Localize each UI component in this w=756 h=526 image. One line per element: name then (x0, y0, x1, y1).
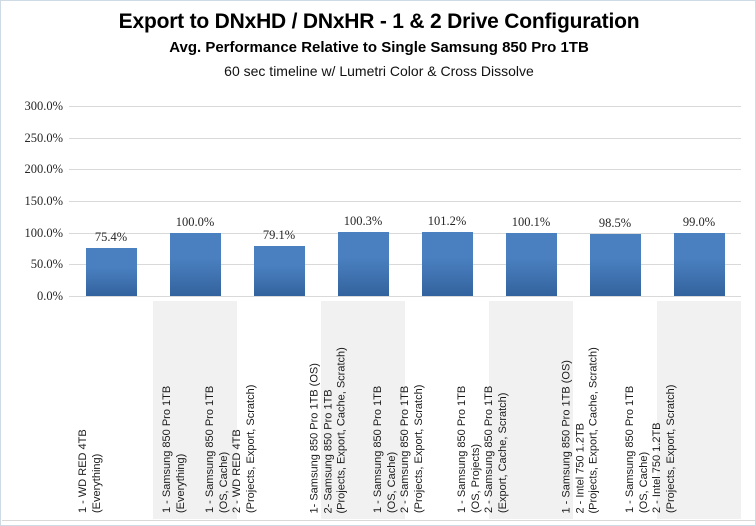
bar-value-label: 100.1% (491, 215, 571, 229)
x-axis-categories: 1 - WD RED 4TB(Everything)1 - Samsung 85… (69, 297, 741, 519)
bar-value-label: 99.0% (659, 215, 739, 229)
category-label-line: 1 - Samsung 850 Pro 1TB (161, 386, 175, 513)
gridline (69, 201, 741, 202)
category-label: 1 - Samsung 850 Pro 1TB(OS, Cache)2 - Sa… (372, 385, 426, 513)
bar-value-label: 100.3% (323, 214, 403, 228)
bottom-divider (2, 520, 756, 521)
category-label: 1 - Samsung 850 Pro 1TB(OS, Projects)2 -… (456, 386, 510, 513)
chart-subtitle: Avg. Performance Relative to Single Sams… (1, 37, 756, 59)
category-label-line: 2 - Intel 750 1.2TB (574, 347, 588, 513)
plot-area (69, 106, 741, 296)
y-axis-tick-label: 250.0% (1, 132, 63, 144)
bar-chart-figure: Export to DNxHD / DNxHR - 1 & 2 Drive Co… (0, 0, 756, 526)
category-label-line: (Everything) (174, 386, 188, 513)
y-axis-tick-label: 150.0% (1, 195, 63, 207)
chart-title-block: Export to DNxHD / DNxHR - 1 & 2 Drive Co… (1, 9, 756, 81)
bar (170, 233, 221, 296)
bar-value-label: 98.5% (575, 216, 655, 230)
category-label-line: 2 - Samsung 850 Pro 1TB (399, 385, 413, 513)
category-label: 1 - Samsung 850 Pro 1TB(OS, Cache)2 - In… (624, 385, 678, 513)
y-axis-tick-label: 300.0% (1, 100, 63, 112)
category-label-line: (OS, Projects) (470, 386, 484, 513)
gridline (69, 106, 741, 107)
category-label-line: (Projects, Export, Scratch) (665, 385, 679, 513)
category-label: 1 - Samsung 850 Pro 1TB (OS)2 - Intel 75… (560, 347, 601, 513)
category-label-line: 1 - Samsung 850 Pro 1TB (456, 386, 470, 513)
category-label: 1- Samsung 850 Pro 1TB (OS)2- Samsung 85… (308, 347, 349, 513)
category-label-line: 1 - Samsung 850 Pro 1TB (OS) (560, 347, 574, 513)
y-axis-tick-label: 100.0% (1, 227, 63, 239)
bar-value-label: 75.4% (71, 230, 151, 244)
y-axis-tick-label: 0.0% (1, 290, 63, 302)
category-label-line: (Projects, Export, Cache, Scratch) (335, 347, 349, 513)
category-label: 1 - WD RED 4TB(Everything) (77, 429, 104, 513)
gridline (69, 138, 741, 139)
bar (254, 246, 305, 296)
gridline (69, 169, 741, 170)
category-label-line: (Projects, Export, Scratch) (245, 385, 259, 513)
y-axis-tick-label: 200.0% (1, 163, 63, 175)
chart-sub-subtitle: 60 sec timeline w/ Lumetri Color & Cross… (1, 61, 756, 81)
y-axis-tick-label: 50.0% (1, 258, 63, 270)
category-label-line: (OS, Cache) (218, 385, 232, 513)
bar-value-label: 79.1% (239, 228, 319, 242)
category-label-line: 1 - Samsung 850 Pro 1TB (372, 385, 386, 513)
category-label-line: 2 - Samsung 850 Pro 1TB (483, 386, 497, 513)
category-label-line: 1 - Samsung 850 Pro 1TB (204, 385, 218, 513)
bar (338, 232, 389, 296)
bar (506, 233, 557, 296)
category-label-line: 1 - WD RED 4TB (77, 429, 91, 513)
category-label-line: (Projects, Export, Cache, Scratch) (587, 347, 601, 513)
category-label-line: 2 - WD RED 4TB (231, 385, 245, 513)
bar (590, 234, 641, 296)
category-label: 1 - Samsung 850 Pro 1TB(Everything) (161, 386, 188, 513)
category-label-line: (Export, Cache, Scratch) (497, 386, 511, 513)
category-label-line: 2- Samsung 850 Pro 1TB (322, 347, 336, 513)
bar (86, 248, 137, 296)
category-label-line: (Everything) (90, 429, 104, 513)
bar (422, 232, 473, 296)
page-title: Export to DNxHD / DNxHR - 1 & 2 Drive Co… (1, 9, 756, 35)
category-label-line: (Projects, Export, Scratch) (413, 385, 427, 513)
bar (674, 233, 725, 296)
bar-value-label: 100.0% (155, 215, 235, 229)
bar-value-label: 101.2% (407, 214, 487, 228)
category-label: 1 - Samsung 850 Pro 1TB(OS, Cache)2 - WD… (204, 385, 258, 513)
category-label-line: (OS, Cache) (638, 385, 652, 513)
category-label-line: (OS, Cache) (386, 385, 400, 513)
category-label-line: 1- Samsung 850 Pro 1TB (OS) (308, 347, 322, 513)
category-label-line: 1 - Samsung 850 Pro 1TB (624, 385, 638, 513)
category-label-line: 2 - Intel 750 1.2TB (651, 385, 665, 513)
